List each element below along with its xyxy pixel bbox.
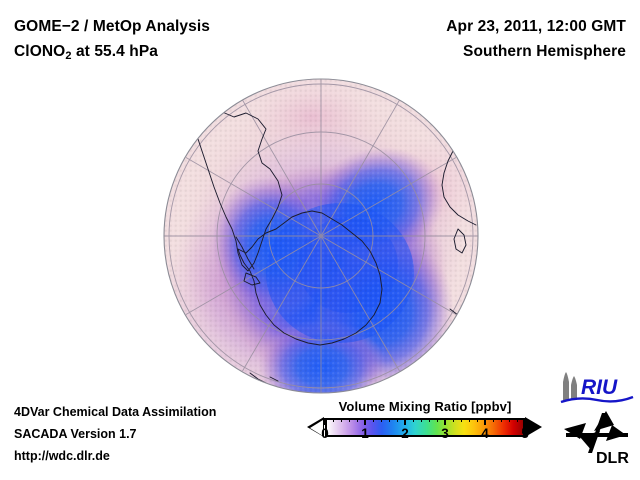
colorbar-major-tick xyxy=(324,418,326,425)
dlr-pinwheel-icon xyxy=(564,411,628,453)
colorbar-minor-tick xyxy=(509,418,510,422)
colorbar-major-tick xyxy=(364,418,366,425)
colorbar-minor-tick xyxy=(349,418,350,422)
colorbar-ticks xyxy=(325,418,525,425)
colorbar-major-tick xyxy=(444,418,446,425)
colorbar-minor-tick xyxy=(421,418,422,422)
altitude-text: at 55.4 hPa xyxy=(72,43,159,60)
colorbar-title: Volume Mixing Ratio [ppbv] xyxy=(306,399,544,414)
colorbar-major-tick xyxy=(404,418,406,425)
riu-logo: RIU xyxy=(557,372,635,406)
colorbar-minor-tick xyxy=(341,418,342,422)
colorbar-tick-label: 1 xyxy=(361,426,369,442)
colorbar-minor-tick xyxy=(493,418,494,422)
colorbar-major-tick xyxy=(484,418,486,425)
colorbar-major-tick xyxy=(524,418,526,425)
colorbar-minor-tick xyxy=(373,418,374,422)
colorbar-minor-tick xyxy=(389,418,390,422)
species-subscript: 2 xyxy=(65,50,71,62)
website-url[interactable]: http://wdc.dlr.de xyxy=(14,445,216,467)
header-left: GOME−2 / MetOp Analysis ClONO2 at 55.4 h… xyxy=(14,14,210,66)
hemisphere-label: Southern Hemisphere xyxy=(446,39,626,64)
riu-tower-icon xyxy=(563,372,577,400)
dlr-wordmark: DLR xyxy=(596,450,629,465)
colorbar-tick-labels: 012345 xyxy=(325,426,525,444)
colorbar-minor-tick xyxy=(333,418,334,422)
colorbar-minor-tick xyxy=(397,418,398,422)
colorbar-minor-tick xyxy=(461,418,462,422)
colorbar-minor-tick xyxy=(413,418,414,422)
colorbar-minor-tick xyxy=(501,418,502,422)
colorbar-minor-tick xyxy=(381,418,382,422)
visualization-page: GOME−2 / MetOp Analysis ClONO2 at 55.4 h… xyxy=(0,0,640,480)
header-right: Apr 23, 2011, 12:00 GMT Southern Hemisph… xyxy=(446,14,626,64)
footer-text: 4DVar Chemical Data Assimilation SACADA … xyxy=(14,401,216,467)
globe-map xyxy=(162,77,480,395)
colorbar-minor-tick xyxy=(437,418,438,422)
riu-wordmark: RIU xyxy=(581,376,618,399)
instrument-title: GOME−2 / MetOp Analysis xyxy=(14,14,210,39)
colorbar-tick-label: 4 xyxy=(481,426,489,442)
colorbar-minor-tick xyxy=(453,418,454,422)
colorbar-minor-tick xyxy=(469,418,470,422)
version-label: SACADA Version 1.7 xyxy=(14,423,216,445)
colorbar-minor-tick xyxy=(477,418,478,422)
colorbar-tick-label: 3 xyxy=(441,426,449,442)
colorbar-minor-tick xyxy=(517,418,518,422)
dlr-logo: DLR xyxy=(562,409,636,465)
colorbar-tick-label: 0 xyxy=(321,426,329,442)
colorbar-minor-tick xyxy=(357,418,358,422)
species-name: ClONO xyxy=(14,43,65,60)
species-altitude-title: ClONO2 at 55.4 hPa xyxy=(14,39,210,66)
colorbar-tick-label: 2 xyxy=(401,426,409,442)
colorbar: Volume Mixing Ratio [ppbv] 012345 xyxy=(306,399,544,438)
method-label: 4DVar Chemical Data Assimilation xyxy=(14,401,216,423)
colorbar-tick-label: 5 xyxy=(521,426,529,442)
colorbar-minor-tick xyxy=(429,418,430,422)
datetime-label: Apr 23, 2011, 12:00 GMT xyxy=(446,14,626,39)
